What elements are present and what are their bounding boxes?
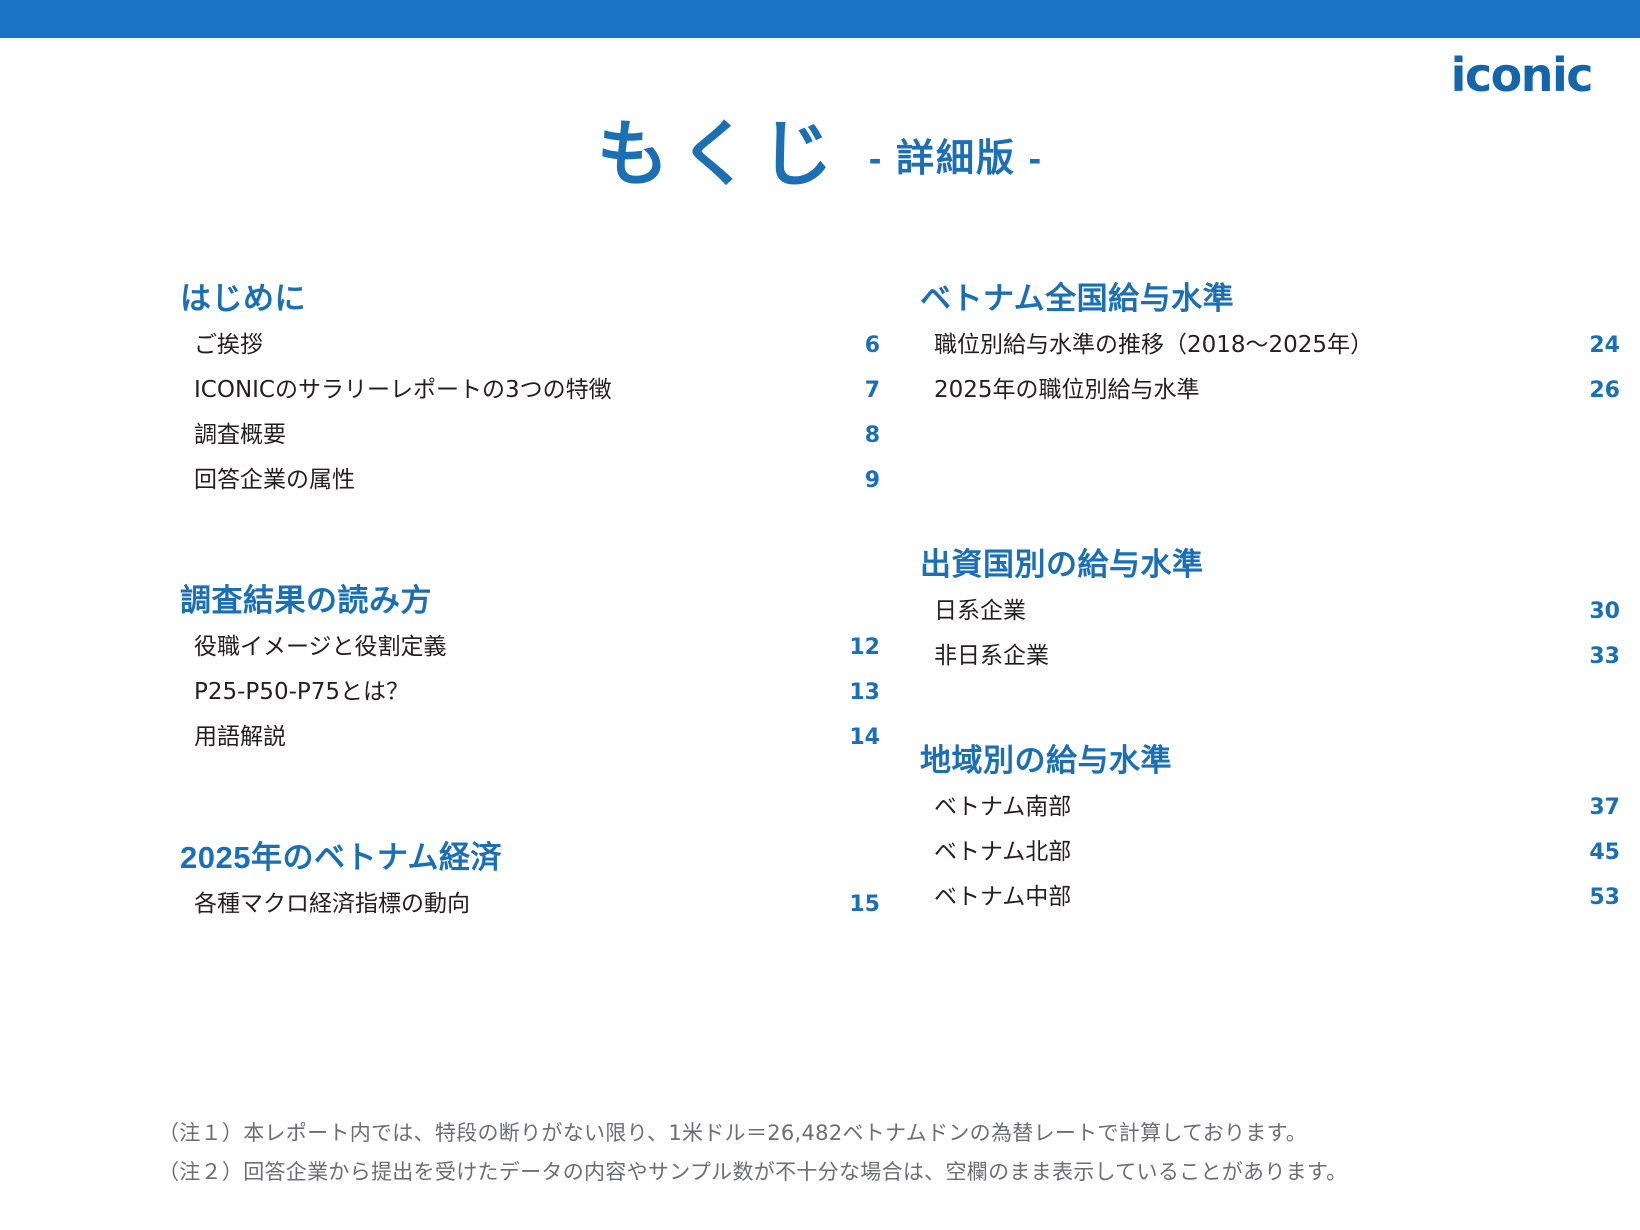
toc-entry[interactable]: 非日系企業33 [920,645,1620,690]
toc-entry[interactable]: 調査概要8 [180,424,880,469]
toc-group-heading: 出資国別の給与水準 [920,544,1620,586]
toc-entry[interactable]: 2025年の職位別給与水準26 [920,379,1620,424]
toc-entry-label: 調査概要 [194,424,286,447]
toc-entry-label: 非日系企業 [934,645,1049,668]
toc-entry-label: 役職イメージと役割定義 [194,636,447,659]
page-title-main: もくじ [597,118,843,194]
toc-entry[interactable]: 各種マクロ経済指標の動向15 [180,893,880,938]
toc-entry-page-number: 13 [840,682,880,704]
toc-entry-label: ICONICのサラリーレポートの3つの特徴 [194,379,612,402]
toc-entry-page-number: 15 [840,894,880,916]
toc-entry[interactable]: ベトナム中部53 [920,886,1620,931]
toc-entry-label: 用語解説 [194,726,286,749]
toc-group: ベトナム全国給与水準職位別給与水準の推移（2018〜2025年）242025年の… [920,278,1620,424]
toc-entry[interactable]: ベトナム南部37 [920,796,1620,841]
toc-group: 2025年のベトナム経済各種マクロ経済指標の動向15 [180,837,880,938]
toc-entry-page-number: 12 [840,637,880,659]
toc-entry-label: P25-P50-P75とは？ [194,681,409,704]
toc-entry-label: 職位別給与水準の推移（2018〜2025年） [934,334,1373,357]
toc-entry[interactable]: ICONICのサラリーレポートの3つの特徴7 [180,379,880,424]
toc-slide: iconic もくじ - 詳細版 - はじめにご挨拶6ICONICのサラリーレポ… [0,0,1640,1230]
toc-group: 地域別の給与水準ベトナム南部37ベトナム北部45ベトナム中部53 [920,740,1620,931]
toc-columns: はじめにご挨拶6ICONICのサラリーレポートの3つの特徴7調査概要8回答企業の… [0,278,1640,944]
toc-entry-page-number: 30 [1580,601,1620,623]
toc-entry-page-number: 6 [840,335,880,357]
toc-entry-page-number: 26 [1580,380,1620,402]
toc-entry[interactable]: 職位別給与水準の推移（2018〜2025年）24 [920,334,1620,379]
toc-entry-page-number: 37 [1580,797,1620,819]
toc-entry-label: 日系企業 [934,600,1026,623]
footnotes: （注１）本レポート内では、特段の断りがない限り、1米ドル＝26,482ベトナムド… [158,1114,1518,1192]
toc-column-left: はじめにご挨拶6ICONICのサラリーレポートの3つの特徴7調査概要8回答企業の… [180,278,880,944]
toc-entry-label: 各種マクロ経済指標の動向 [194,893,470,916]
toc-entry[interactable]: 日系企業30 [920,600,1620,645]
toc-entry-page-number: 14 [840,727,880,749]
toc-entry[interactable]: ご挨拶6 [180,334,880,379]
toc-entry-label: 2025年の職位別給与水準 [934,379,1200,402]
toc-entry-page-number: 24 [1580,335,1620,357]
footnote-line: （注１）本レポート内では、特段の断りがない限り、1米ドル＝26,482ベトナムド… [158,1114,1518,1153]
toc-entry-page-number: 7 [840,380,880,402]
toc-entry-page-number: 45 [1580,842,1620,864]
toc-entry-label: ベトナム南部 [934,796,1071,819]
top-accent-bar [0,0,1640,38]
toc-group: 出資国別の給与水準日系企業30非日系企業33 [920,544,1620,690]
toc-group-heading: はじめに [180,278,880,320]
toc-entry-label: ご挨拶 [194,334,263,357]
toc-entry[interactable]: 役職イメージと役割定義12 [180,636,880,681]
toc-group-heading: 調査結果の読み方 [180,580,880,622]
toc-entry-page-number: 53 [1580,887,1620,909]
toc-group: 調査結果の読み方役職イメージと役割定義12P25-P50-P75とは？13用語解… [180,580,880,771]
page-title-subtitle: - 詳細版 - [869,127,1043,194]
toc-group-heading: 2025年のベトナム経済 [180,837,880,879]
toc-entry-label: 回答企業の属性 [194,469,355,492]
toc-entry[interactable]: 回答企業の属性9 [180,469,880,514]
toc-entry[interactable]: P25-P50-P75とは？13 [180,681,880,726]
toc-group: はじめにご挨拶6ICONICのサラリーレポートの3つの特徴7調査概要8回答企業の… [180,278,880,514]
toc-group-heading: ベトナム全国給与水準 [920,278,1620,320]
toc-entry[interactable]: 用語解説14 [180,726,880,771]
iconic-logo: iconic [1451,52,1592,98]
footnote-line: （注２）回答企業から提出を受けたデータの内容やサンプル数が不十分な場合は、空欄の… [158,1153,1518,1192]
page-title: もくじ - 詳細版 - [0,118,1640,194]
toc-entry-label: ベトナム北部 [934,841,1071,864]
toc-entry[interactable]: ベトナム北部45 [920,841,1620,886]
toc-entry-page-number: 9 [840,470,880,492]
toc-entry-label: ベトナム中部 [934,886,1071,909]
toc-group-heading: 地域別の給与水準 [920,740,1620,782]
toc-entry-page-number: 33 [1580,646,1620,668]
toc-column-right: ベトナム全国給与水準職位別給与水準の推移（2018〜2025年）242025年の… [920,278,1620,944]
toc-entry-page-number: 8 [840,425,880,447]
